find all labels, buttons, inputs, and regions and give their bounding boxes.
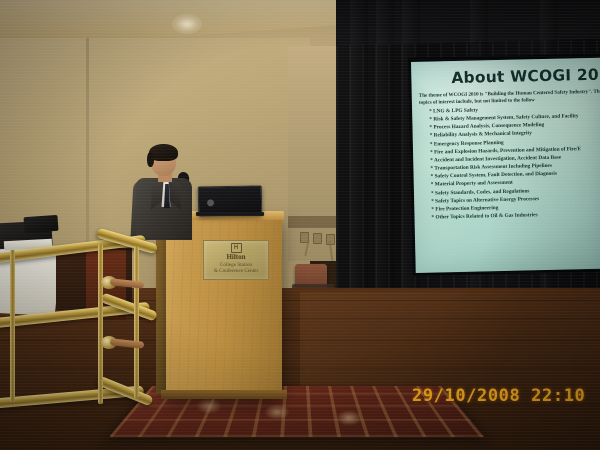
back-wall-right	[288, 46, 338, 261]
camera-timestamp: 29/10/2008 22:10	[412, 386, 585, 406]
rug-medallion	[196, 398, 222, 414]
rug-medallion	[264, 404, 290, 420]
rug-medallion	[336, 410, 362, 426]
projection-screen: About WCOGI 2010 The theme of WCOGI 2010…	[411, 58, 600, 273]
slide-title: About WCOGI 2010	[451, 65, 600, 87]
speaker-eyeglasses	[152, 158, 175, 165]
laptop-logo-icon	[207, 199, 214, 206]
wall-outlet	[313, 233, 322, 244]
hilton-plaque: H Hilton College Station & Conference Ce…	[203, 240, 269, 280]
railing-post	[10, 250, 15, 402]
slide-bullet-list: LNG & LPG Safety Risk & Safety Managemen…	[429, 103, 600, 221]
hilton-logo-icon: H	[231, 243, 242, 253]
conference-photo: About WCOGI 2010 The theme of WCOGI 2010…	[0, 0, 600, 450]
podium-base	[161, 390, 287, 399]
plaque-venue-name: Hilton	[204, 253, 268, 262]
railing-post	[134, 246, 139, 398]
plaque-venue-line3: & Conference Center	[204, 268, 268, 274]
recessed-ceiling-light	[172, 14, 202, 34]
railing-post	[98, 244, 103, 404]
laptop-hinge	[196, 212, 264, 216]
wall-baseboard	[288, 216, 340, 228]
black-bag-secondary	[23, 215, 58, 233]
